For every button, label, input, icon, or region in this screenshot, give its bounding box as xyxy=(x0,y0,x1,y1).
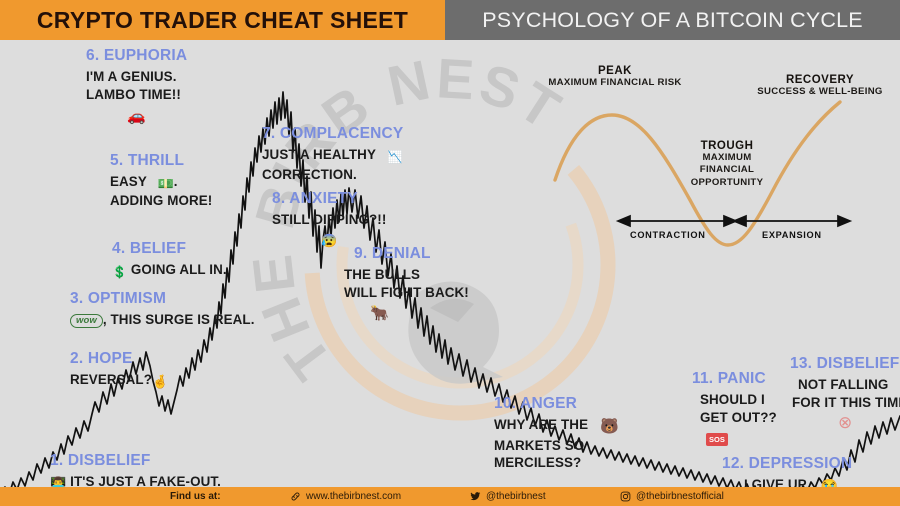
infographic-root: CRYPTO TRADER CHEAT SHEET PSYCHOLOGY OF … xyxy=(0,0,900,506)
peak-title: PEAK xyxy=(520,65,710,77)
stage-2-body-text: REVERSAL? xyxy=(70,372,152,387)
stage-2-body: REVERSAL?🤞 xyxy=(70,371,168,390)
footer-lead-text: Find us at: xyxy=(170,491,221,502)
stage-2-heading: 2. HOPE xyxy=(70,350,168,368)
stage-8-heading: 8. ANXIETY xyxy=(272,190,386,208)
instagram-icon xyxy=(620,491,631,502)
trough-subtitle-1: MAXIMUM xyxy=(662,152,792,164)
stage-3-body-text: , THIS SURGE IS REAL. xyxy=(103,312,255,327)
cycle-recovery-label: RECOVERY SUCCESS & WELL-BEING xyxy=(740,74,900,98)
link-icon xyxy=(290,491,301,502)
stage-13-disbelief: 13. DISBELIEF NOT FALLING FOR IT THIS TI… xyxy=(790,355,900,433)
sweat-face-emoji: 😰 xyxy=(321,233,337,249)
bull-emoji: 🐂 xyxy=(370,304,389,322)
stage-2-hope: 2. HOPE REVERSAL?🤞 xyxy=(70,350,168,390)
stage-6-euphoria: 6. EUPHORIA I'M A GENIUS. LAMBO TIME!! 🚗 xyxy=(86,47,187,125)
stage-10-anger: 10. ANGER WHY ARE THE 🐻 MARKETS SO MERCI… xyxy=(494,395,619,472)
stage-6-body-1: I'M A GENIUS. xyxy=(86,68,187,86)
header-left-title-block: CRYPTO TRADER CHEAT SHEET xyxy=(0,0,445,40)
footer-website-text: www.thebirbnest.com xyxy=(306,491,401,502)
header-bar: CRYPTO TRADER CHEAT SHEET PSYCHOLOGY OF … xyxy=(0,0,900,40)
bear-emoji: 🐻 xyxy=(600,417,619,437)
cycle-trough-label: TROUGH MAXIMUM FINANCIAL OPPORTUNITY xyxy=(662,140,792,189)
stage-7-complacency: 7. COMPLACENCY JUST A HEALTHY 📉 CORRECTI… xyxy=(262,125,403,183)
stage-11-body-2: GET OUT?? xyxy=(692,409,777,427)
stage-1-heading: 1. DISBELIEF xyxy=(50,452,221,470)
footer-instagram-link[interactable]: @thebirbnestofficial xyxy=(620,491,724,502)
stage-7-body-1: JUST A HEALTHY 📉 xyxy=(262,146,403,166)
contraction-label: CONTRACTION xyxy=(630,230,706,240)
footer-twitter-link[interactable]: @thebirbnest xyxy=(470,491,546,502)
page-subtitle: PSYCHOLOGY OF A BITCOIN CYCLE xyxy=(482,8,863,33)
recovery-subtitle: SUCCESS & WELL-BEING xyxy=(740,86,900,98)
stage-7-heading: 7. COMPLACENCY xyxy=(262,125,403,143)
stage-11-body-1: SHOULD I xyxy=(692,391,777,409)
stage-13-heading: 13. DISBELIEF xyxy=(790,355,900,373)
footer-twitter-text: @thebirbnest xyxy=(486,491,546,502)
cycle-peak-label: PEAK MAXIMUM FINANCIAL RISK xyxy=(520,65,710,89)
stage-10-body-2: MARKETS SO xyxy=(494,437,619,455)
footer-bar: Find us at: www.thebirbnest.com @thebirb… xyxy=(0,487,900,506)
stage-12-heading: 12. DEPRESSION xyxy=(722,455,852,473)
stage-9-body-2: WILL FIGHT BACK! xyxy=(344,284,469,302)
chart-down-icon: 📉 xyxy=(388,150,403,166)
money-emoji: 💵 xyxy=(157,175,173,192)
stage-10-body-3: MERCILESS? xyxy=(494,454,619,472)
stage-3-body: wow, THIS SURGE IS REAL. xyxy=(70,311,255,329)
stage-10-body-1: WHY ARE THE 🐻 xyxy=(494,416,619,437)
stage-4-body-text: GOING ALL IN. xyxy=(131,262,227,277)
stage-9-heading: 9. DENIAL xyxy=(344,245,469,263)
stage-5-thrill: 5. THRILL EASY 💵. ADDING MORE! xyxy=(110,152,212,210)
trough-subtitle-3: OPPORTUNITY xyxy=(662,177,792,189)
stage-4-belief: 4. BELIEF 💲 GOING ALL IN. xyxy=(112,240,227,281)
footer-instagram-text: @thebirbnestofficial xyxy=(636,491,724,502)
crossed-fingers-emoji: 🤞 xyxy=(152,373,168,390)
stage-9-body-1: THE BULLS xyxy=(344,266,469,284)
stage-13-body-1: NOT FALLING xyxy=(790,376,900,394)
stage-3-heading: 3. OPTIMISM xyxy=(70,290,255,308)
dollar-emoji: 💲 xyxy=(112,265,127,281)
trough-subtitle-2: FINANCIAL xyxy=(662,164,792,176)
page-title: CRYPTO TRADER CHEAT SHEET xyxy=(37,7,408,34)
stage-3-optimism: 3. OPTIMISM wow, THIS SURGE IS REAL. xyxy=(70,290,255,329)
stage-7-body-text: JUST A HEALTHY xyxy=(262,147,376,162)
stage-4-body: 💲 GOING ALL IN. xyxy=(112,261,227,281)
circled-x-icon: ⊗ xyxy=(838,413,852,433)
peak-subtitle: MAXIMUM FINANCIAL RISK xyxy=(520,77,710,89)
sports-car-emoji: 🚗 xyxy=(127,107,146,125)
sos-icon: SOS xyxy=(706,433,728,446)
chart-canvas: THE BIRB NEST PEAK MAXIMUM FIN xyxy=(0,40,900,487)
stage-8-anxiety: 8. ANXIETY STILL DIPPING?!! 😰 xyxy=(272,190,386,249)
expansion-label: EXPANSION xyxy=(762,230,822,240)
stage-1-disbelief: 1. DISBELIEF 👨‍💻 IT'S JUST A FAKE-OUT. xyxy=(50,452,221,492)
stage-11-panic: 11. PANIC SHOULD I GET OUT?? SOS xyxy=(692,370,777,446)
footer-website-link[interactable]: www.thebirbnest.com xyxy=(290,491,401,502)
recovery-title: RECOVERY xyxy=(740,74,900,86)
stage-13-body-2: FOR IT THIS TIME. xyxy=(790,394,900,412)
trough-title: TROUGH xyxy=(662,140,792,152)
stage-11-heading: 11. PANIC xyxy=(692,370,777,388)
header-right-title-block: PSYCHOLOGY OF A BITCOIN CYCLE xyxy=(445,0,900,40)
stage-10-body-text: WHY ARE THE xyxy=(494,417,588,432)
stage-5-body-1: EASY 💵. xyxy=(110,173,212,192)
stage-6-body-2: LAMBO TIME!! xyxy=(86,86,187,104)
stage-9-denial: 9. DENIAL THE BULLS WILL FIGHT BACK! 🐂 xyxy=(344,245,469,322)
stage-10-heading: 10. ANGER xyxy=(494,395,619,413)
stage-5-body-2: ADDING MORE! xyxy=(110,192,212,210)
stage-4-heading: 4. BELIEF xyxy=(112,240,227,258)
stage-5-body-text: EASY xyxy=(110,174,147,189)
stage-7-body-2: CORRECTION. xyxy=(262,166,403,184)
stage-5-heading: 5. THRILL xyxy=(110,152,212,170)
stage-6-heading: 6. EUPHORIA xyxy=(86,47,187,65)
twitter-icon xyxy=(470,491,481,502)
contraction-arrow xyxy=(618,216,736,226)
wow-speech-bubble: wow xyxy=(70,314,103,329)
stage-8-body: STILL DIPPING?!! xyxy=(272,211,386,229)
